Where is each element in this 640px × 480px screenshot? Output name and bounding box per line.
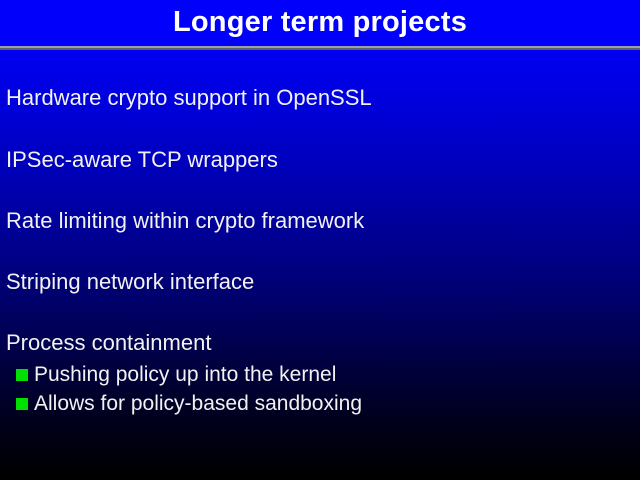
- title-divider-rule: [0, 46, 640, 50]
- slide-title: Longer term projects: [0, 4, 640, 40]
- bullet-item-hardware-crypto: Hardware crypto support in OpenSSL: [6, 84, 372, 112]
- bullet-item-striping-network-interface: Striping network interface: [6, 268, 254, 296]
- bullet-item-rate-limiting: Rate limiting within crypto framework: [6, 207, 364, 235]
- sub-bullet-item-policy-sandboxing: Allows for policy-based sandboxing: [16, 391, 362, 417]
- sub-bullet-label: Allows for policy-based sandboxing: [34, 391, 362, 417]
- green-square-bullet-icon: [16, 398, 28, 410]
- green-square-bullet-icon: [16, 369, 28, 381]
- slide-content: Hardware crypto support in OpenSSL IPSec…: [0, 50, 640, 480]
- sub-bullet-label: Pushing policy up into the kernel: [34, 362, 336, 388]
- bullet-item-ipsec-tcp-wrappers: IPSec-aware TCP wrappers: [6, 146, 278, 174]
- sub-bullet-item-pushing-policy: Pushing policy up into the kernel: [16, 362, 336, 388]
- presentation-slide: Longer term projects Hardware crypto sup…: [0, 0, 640, 480]
- bullet-item-process-containment: Process containment: [6, 329, 211, 357]
